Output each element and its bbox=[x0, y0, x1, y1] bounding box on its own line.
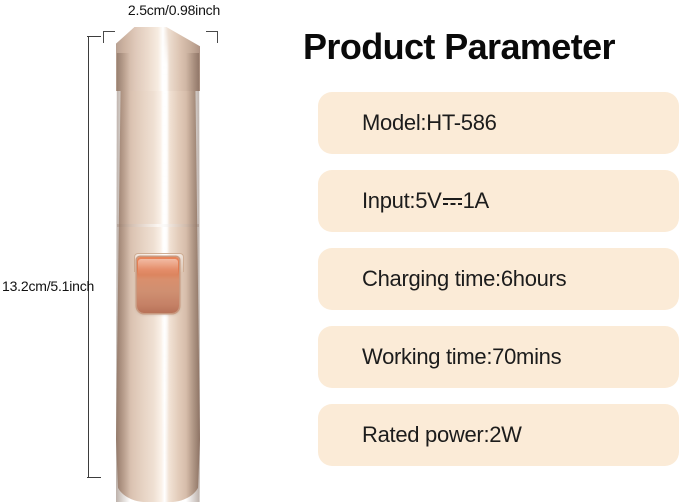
parameter-label-rated-power: Rated power:2W bbox=[318, 422, 522, 448]
parameter-label-charging-time: Charging time:6hours bbox=[318, 266, 566, 292]
parameter-row-model: Model:HT-586 bbox=[318, 92, 679, 154]
width-bracket-right-icon bbox=[206, 31, 218, 43]
cutter-window-gloss bbox=[138, 259, 178, 275]
dc-voltage-icon bbox=[443, 194, 462, 208]
height-dimension-ruler-icon bbox=[88, 36, 103, 478]
device-shading-right bbox=[186, 53, 200, 502]
device-shading-left bbox=[116, 53, 130, 502]
parameter-row-rated-power: Rated power:2W bbox=[318, 404, 679, 466]
parameter-label-input: Input:5V 1A bbox=[318, 188, 489, 214]
height-dimension-label: 13.2cm/5.1inch bbox=[2, 278, 94, 294]
product-image-panel: 2.5cm/0.98inch 13.2cm/5.1inch bbox=[0, 0, 290, 491]
parameter-row-working-time: Working time:70mins bbox=[318, 326, 679, 388]
parameter-label-working-time: Working time:70mins bbox=[318, 344, 561, 370]
parameter-input-prefix: Input:5V bbox=[362, 188, 442, 214]
product-device-image bbox=[112, 27, 204, 502]
device-specular-highlight bbox=[162, 31, 168, 461]
parameter-row-input: Input:5V 1A bbox=[318, 170, 679, 232]
parameter-input-suffix: 1A bbox=[463, 188, 489, 214]
product-parameter-panel: Product Parameter Model:HT-586 Input:5V … bbox=[300, 0, 679, 491]
device-seam-line bbox=[117, 224, 199, 227]
parameter-label-model: Model:HT-586 bbox=[318, 110, 497, 136]
width-dimension-label: 2.5cm/0.98inch bbox=[104, 2, 244, 18]
page-title: Product Parameter bbox=[303, 26, 679, 68]
parameter-row-charging-time: Charging time:6hours bbox=[318, 248, 679, 310]
parameter-list: Model:HT-586 Input:5V 1A Charging time:6… bbox=[318, 92, 679, 482]
